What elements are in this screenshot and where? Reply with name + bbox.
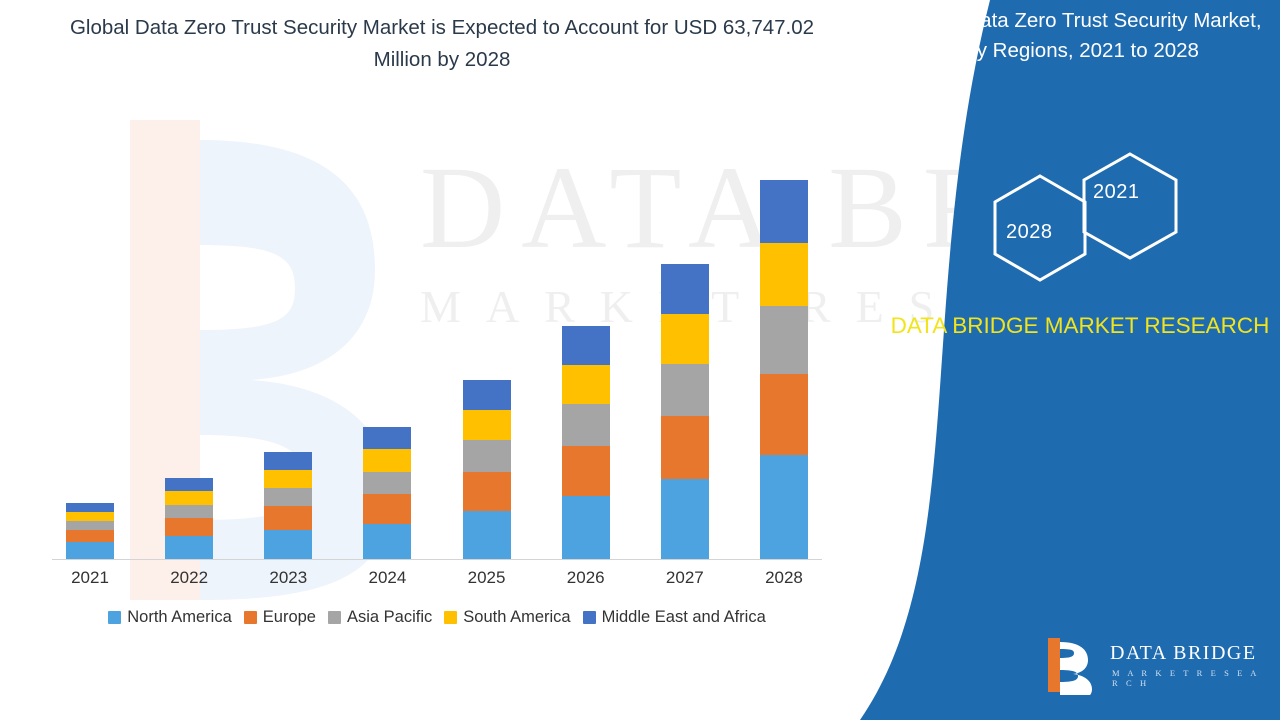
bar-segment [661, 416, 709, 479]
brand-logo: DATA BRIDGE M A R K E T R E S E A R C H [1040, 630, 1270, 700]
bar-segment [760, 180, 808, 243]
bar-segment [165, 518, 213, 536]
legend-item[interactable]: South America [444, 608, 570, 627]
x-axis-line [52, 559, 822, 560]
x-axis-label-2022: 2022 [165, 568, 213, 588]
x-axis-label-2023: 2023 [264, 568, 312, 588]
bar-segment [264, 488, 312, 506]
legend-swatch-icon [328, 611, 341, 624]
bar-segment [165, 478, 213, 492]
bar-segment [264, 470, 312, 488]
bar-column-2022 [165, 478, 213, 559]
bar-column-2028 [760, 180, 808, 559]
bar-segment [760, 243, 808, 306]
x-axis-labels: 20212022202320242025202620272028 [52, 568, 822, 588]
bar-segment [661, 479, 709, 559]
x-axis-label-2027: 2027 [661, 568, 709, 588]
x-axis-label-2024: 2024 [363, 568, 411, 588]
legend-item[interactable]: Middle East and Africa [583, 608, 766, 627]
hexagon-group: 2028 2021 [980, 148, 1280, 288]
bar-segment [264, 530, 312, 559]
bar-segment [463, 472, 511, 511]
bar-segment [463, 440, 511, 472]
chart-region: Global Data Zero Trust Security Market i… [0, 0, 860, 720]
slide-canvas: DATA BRIDGE MARKET RESEARCH Global Data … [0, 0, 1280, 720]
legend-label: Europe [263, 608, 316, 627]
legend-label: Asia Pacific [347, 608, 432, 627]
bar-segment [760, 455, 808, 559]
bar-segment [661, 364, 709, 417]
bar-segment [165, 536, 213, 559]
bar-segment [661, 314, 709, 364]
legend-item[interactable]: North America [108, 608, 232, 627]
bar-series-container [52, 120, 822, 559]
bar-segment [264, 506, 312, 530]
bar-segment [463, 511, 511, 559]
bar-segment [66, 530, 114, 543]
legend-label: North America [127, 608, 232, 627]
bar-segment [66, 542, 114, 559]
bar-segment [463, 410, 511, 440]
bar-segment [363, 427, 411, 450]
x-axis-label-2028: 2028 [760, 568, 808, 588]
legend-swatch-icon [108, 611, 121, 624]
bar-column-2025 [463, 380, 511, 559]
legend-item[interactable]: Europe [244, 608, 316, 627]
bar-segment [363, 524, 411, 559]
bar-segment [264, 452, 312, 470]
bar-segment [562, 446, 610, 496]
chart-title: Global Data Zero Trust Security Market i… [52, 12, 832, 76]
bar-segment [562, 404, 610, 446]
bar-segment [463, 380, 511, 410]
bar-segment [165, 505, 213, 519]
bar-segment [66, 503, 114, 512]
bar-segment [363, 472, 411, 495]
x-axis-label-2025: 2025 [463, 568, 511, 588]
legend-item[interactable]: Asia Pacific [328, 608, 432, 627]
legend-swatch-icon [583, 611, 596, 624]
bar-column-2021 [66, 503, 114, 559]
data-bridge-logo-icon [1040, 634, 1102, 696]
bar-segment [562, 365, 610, 404]
legend-label: South America [463, 608, 570, 627]
chart-plot-area: 20212022202320242025202620272028 [52, 120, 822, 560]
chart-legend: North AmericaEuropeAsia PacificSouth Ame… [52, 608, 822, 627]
bar-segment [661, 264, 709, 314]
brand-panel: Global Data Zero Trust Security Market, … [840, 0, 1280, 720]
bar-segment [562, 326, 610, 365]
bar-column-2024 [363, 427, 411, 559]
bar-segment [562, 496, 610, 559]
legend-swatch-icon [244, 611, 257, 624]
hexagon-label-2021: 2021 [1093, 181, 1140, 204]
bar-column-2026 [562, 326, 610, 559]
bar-segment [66, 521, 114, 530]
bar-segment [165, 491, 213, 505]
bar-segment [363, 494, 411, 524]
bar-column-2027 [661, 264, 709, 559]
bar-column-2023 [264, 452, 312, 559]
x-axis-label-2021: 2021 [66, 568, 114, 588]
legend-swatch-icon [444, 611, 457, 624]
legend-label: Middle East and Africa [602, 608, 766, 627]
hexagon-icon [980, 148, 1280, 288]
x-axis-label-2026: 2026 [562, 568, 610, 588]
hexagon-label-2028: 2028 [1006, 221, 1053, 244]
brand-logo-text: DATA BRIDGE [1110, 642, 1257, 665]
bar-segment [66, 512, 114, 521]
bar-segment [760, 306, 808, 374]
bar-segment [760, 374, 808, 455]
brand-name: DATA BRIDGE MARKET RESEARCH [880, 310, 1280, 342]
brand-logo-subtext: M A R K E T R E S E A R C H [1112, 668, 1270, 688]
bar-segment [363, 449, 411, 472]
panel-title: Global Data Zero Trust Security Market, … [898, 6, 1264, 66]
